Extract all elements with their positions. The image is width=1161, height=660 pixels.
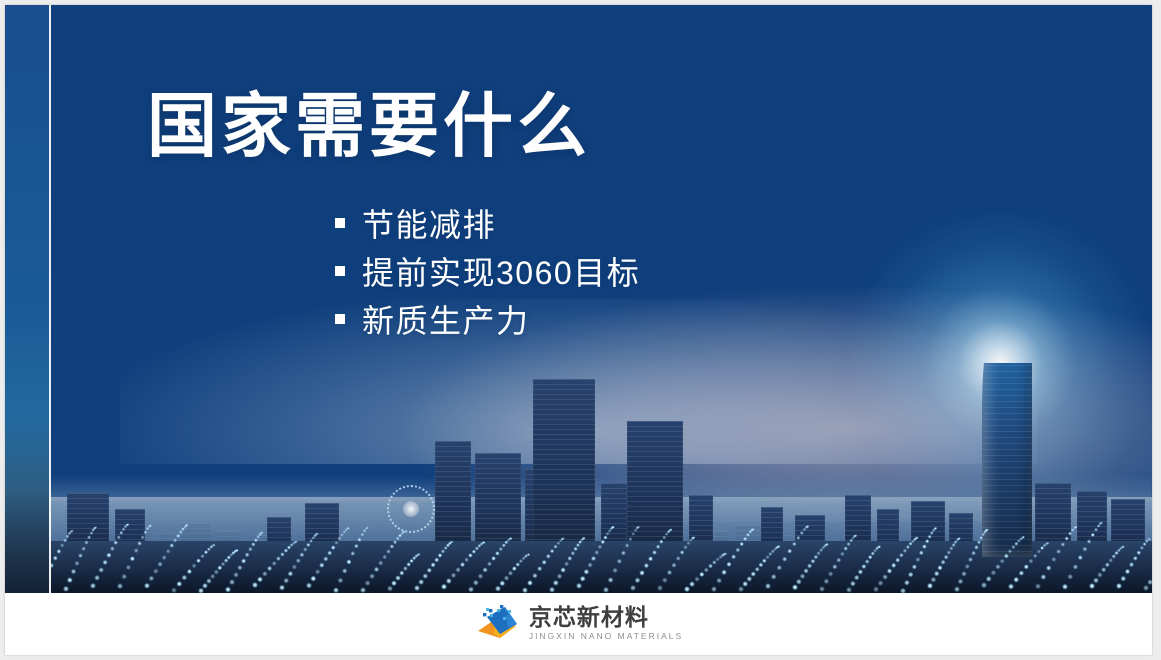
city-skyline xyxy=(5,363,1152,593)
square-bullet-icon xyxy=(335,266,345,276)
logo-text-group: 京芯新材料 JINGXIN NANO MATERIALS xyxy=(529,606,683,641)
building xyxy=(435,441,471,557)
logo-company-name-en: JINGXIN NANO MATERIALS xyxy=(529,632,683,641)
square-bullet-icon xyxy=(335,314,345,324)
bullet-item: 新质生产力 xyxy=(335,295,640,343)
slide-background-image: 国家需要什么 节能减排 提前实现3060目标 新质生产力 xyxy=(5,5,1152,593)
bullet-label: 新质生产力 xyxy=(362,296,530,342)
bullet-item: 提前实现3060目标 xyxy=(335,247,640,295)
slide-footer: 京芯新材料 JINGXIN NANO MATERIALS xyxy=(5,593,1152,655)
logo-company-name-cn: 京芯新材料 xyxy=(529,606,683,629)
curved-skyscraper xyxy=(982,363,1032,557)
building-tall xyxy=(627,421,683,557)
bullet-label: 节能减排 xyxy=(362,200,496,246)
jingxin-logo-icon xyxy=(474,604,520,642)
bullet-item: 节能减排 xyxy=(335,199,640,247)
square-bullet-icon xyxy=(335,218,345,228)
foreground-ground xyxy=(5,541,1152,593)
bullet-label: 提前实现3060目标 xyxy=(362,248,640,294)
company-logo: 京芯新材料 JINGXIN NANO MATERIALS xyxy=(474,604,683,642)
building-tall xyxy=(533,379,595,557)
left-accent-panel xyxy=(5,5,49,593)
bullet-list: 节能减排 提前实现3060目标 新质生产力 xyxy=(335,199,640,343)
slide-viewer: 国家需要什么 节能减排 提前实现3060目标 新质生产力 xyxy=(0,0,1161,660)
slide-title: 国家需要什么 xyxy=(147,87,591,165)
left-accent-rule xyxy=(49,5,51,593)
slide-card: 国家需要什么 节能减排 提前实现3060目标 新质生产力 xyxy=(5,5,1152,655)
ferris-wheel-icon xyxy=(387,485,435,533)
